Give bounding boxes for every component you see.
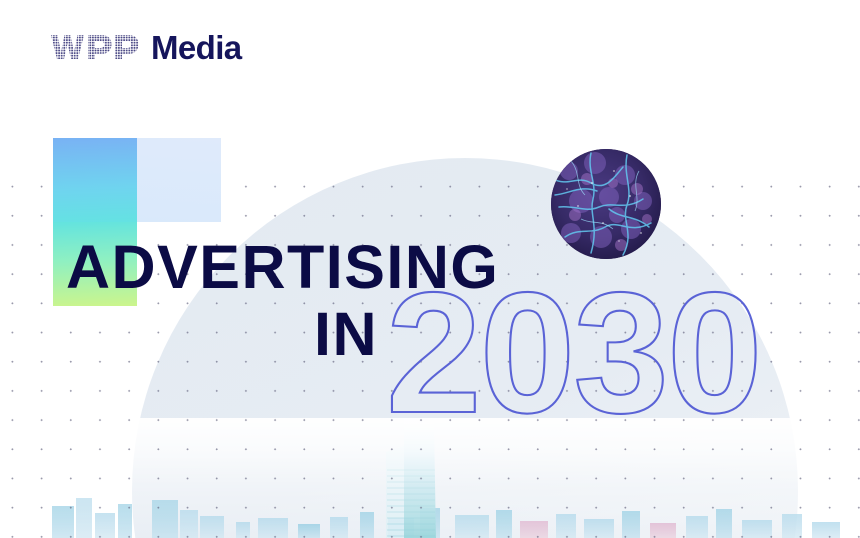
gradient-block-top-right: [137, 138, 221, 222]
headline-line-in: IN: [314, 304, 826, 365]
wpp-media-logo[interactable]: Media: [50, 27, 242, 67]
headline-line-advertising: ADVERTISING: [66, 237, 826, 298]
headline-block: ADVERTISING IN: [66, 237, 826, 365]
wpp-halftone-logomark: [50, 31, 142, 63]
gradient-block-top-left: [53, 138, 137, 222]
logo-word-media: Media: [151, 31, 242, 64]
poster-canvas: 2030 ADVERTISING IN: [0, 0, 860, 538]
